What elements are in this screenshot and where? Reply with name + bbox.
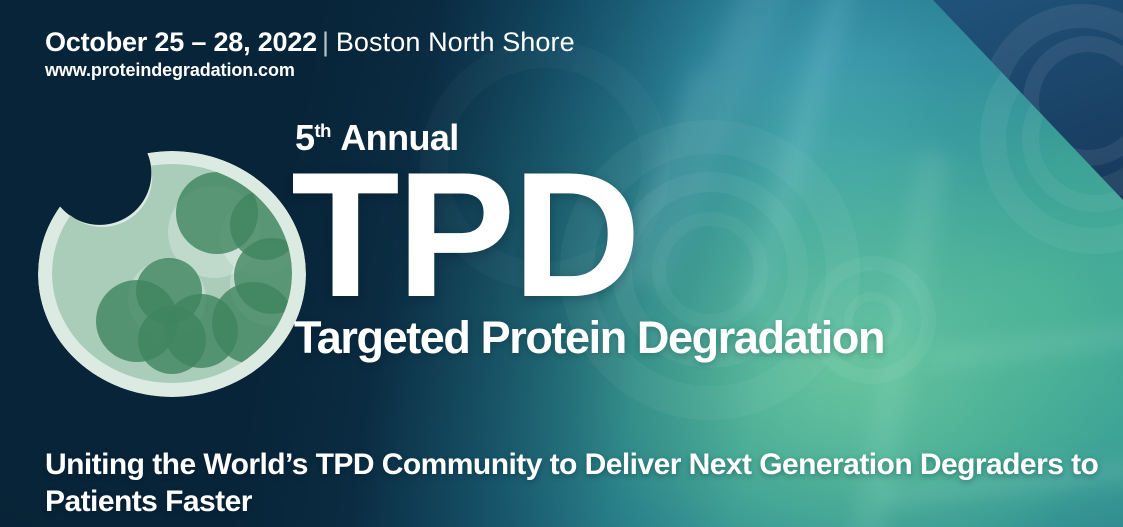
cell-cytoplasm bbox=[52, 164, 292, 383]
tpd-logo-lockup: 5th Annual TPD Targeted Protein Degradat… bbox=[291, 120, 884, 360]
event-date: October 25 – 28, 2022 bbox=[45, 27, 317, 57]
conference-banner: October 25 – 28, 2022|Boston North Shore… bbox=[0, 0, 1123, 527]
event-header: October 25 – 28, 2022|Boston North Shore… bbox=[45, 27, 575, 81]
banner-content: October 25 – 28, 2022|Boston North Shore… bbox=[0, 0, 1123, 527]
event-date-location-line: October 25 – 28, 2022|Boston North Shore bbox=[45, 27, 575, 57]
tpd-acronym: TPD bbox=[291, 158, 884, 311]
protein-blob bbox=[136, 258, 202, 324]
header-separator: | bbox=[317, 27, 336, 57]
tpd-expanded-name: Targeted Protein Degradation bbox=[294, 315, 884, 360]
event-location: Boston North Shore bbox=[336, 27, 575, 57]
event-tagline: Uniting the World’s TPD Community to Del… bbox=[45, 446, 1105, 520]
cell-with-protein-aggregate-icon bbox=[38, 151, 306, 397]
event-website-url[interactable]: www.proteindegradation.com bbox=[45, 60, 575, 81]
